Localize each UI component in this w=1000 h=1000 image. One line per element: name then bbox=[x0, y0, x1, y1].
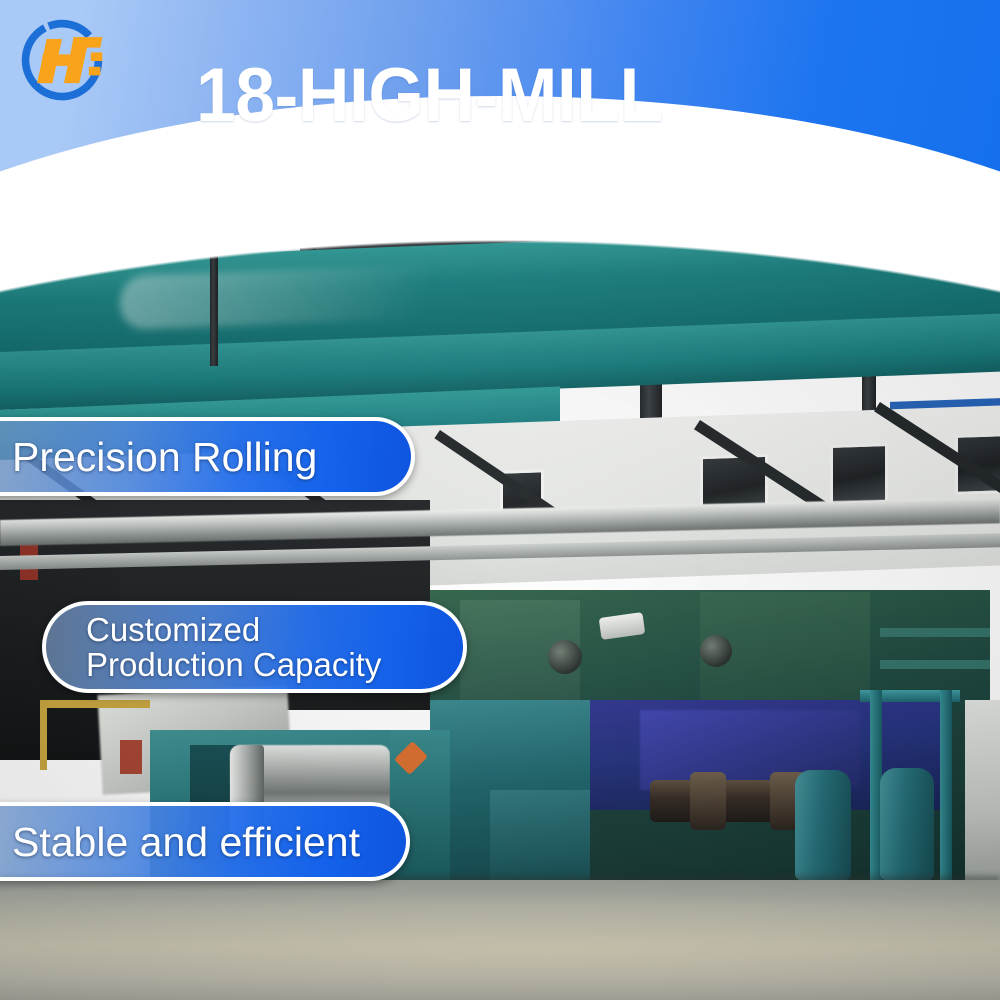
badge-precision-rolling-label: Precision Rolling bbox=[12, 435, 317, 479]
badge-customized-production-capacity-label: Customized Production Capacity bbox=[86, 612, 381, 682]
badge-precision-rolling[interactable]: Precision Rolling bbox=[0, 417, 415, 496]
badge-stable-and-efficient-label: Stable and efficient bbox=[12, 820, 360, 864]
badge-customized-production-capacity[interactable]: Customized Production Capacity bbox=[42, 601, 467, 693]
hf-logo bbox=[14, 16, 110, 108]
badge-stable-and-efficient[interactable]: Stable and efficient bbox=[0, 802, 410, 881]
product-banner: 18-HIGH-MILL bbox=[0, 0, 1000, 1000]
page-title: 18-HIGH-MILL bbox=[196, 58, 663, 134]
